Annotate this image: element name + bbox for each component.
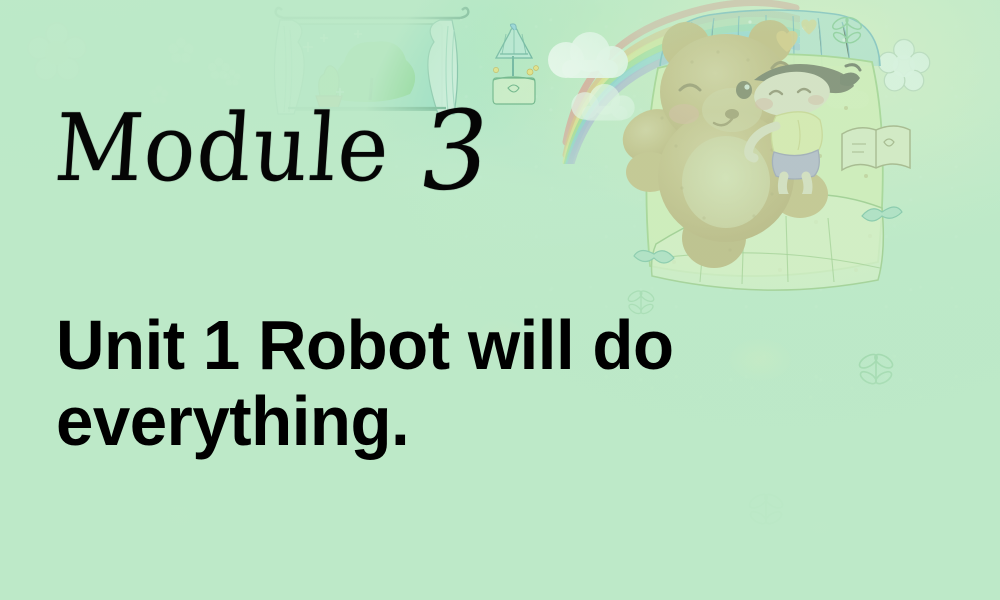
- module-label: Module: [52, 107, 393, 192]
- flower-doodle-icon: [166, 36, 196, 66]
- flower-doodle-icon: [22, 18, 92, 88]
- illustration-blend-overlay: [0, 0, 1000, 600]
- flower-doodle-icon: [206, 56, 232, 82]
- background-texture: [0, 0, 1000, 600]
- rainbow-illustration: [560, 0, 800, 164]
- background-warm-blots: [0, 0, 1000, 600]
- cloud-illustration: [820, 78, 874, 112]
- unit-title: Unit 1 Robot will do everything.: [56, 308, 824, 459]
- quilt-illustration: [620, 26, 920, 302]
- module-number: 3: [418, 106, 491, 198]
- table-lamp-illustration: [482, 22, 546, 114]
- background-wash: [0, 0, 1000, 600]
- module-heading: Module 3: [52, 104, 489, 193]
- dragonfly-doodle-icon: [854, 348, 898, 392]
- flower-doodle-icon: [222, 68, 242, 88]
- teddy-bear-illustration: [622, 18, 882, 282]
- bed-headboard-illustration: [654, 4, 884, 70]
- heart-icon: [798, 16, 820, 36]
- flower-doodle-icon: [874, 36, 934, 96]
- cloud-illustration: [564, 78, 642, 124]
- girl-illustration: [736, 48, 866, 194]
- heart-icon: [772, 26, 802, 54]
- slide-canvas: Module 3 Unit 1 Robot will do everything…: [0, 0, 1000, 600]
- dragonfly-doodle-icon: [744, 488, 788, 532]
- open-book-illustration: [838, 120, 914, 178]
- dragonfly-doodle-icon: [828, 12, 866, 50]
- cloud-illustration: [540, 26, 636, 82]
